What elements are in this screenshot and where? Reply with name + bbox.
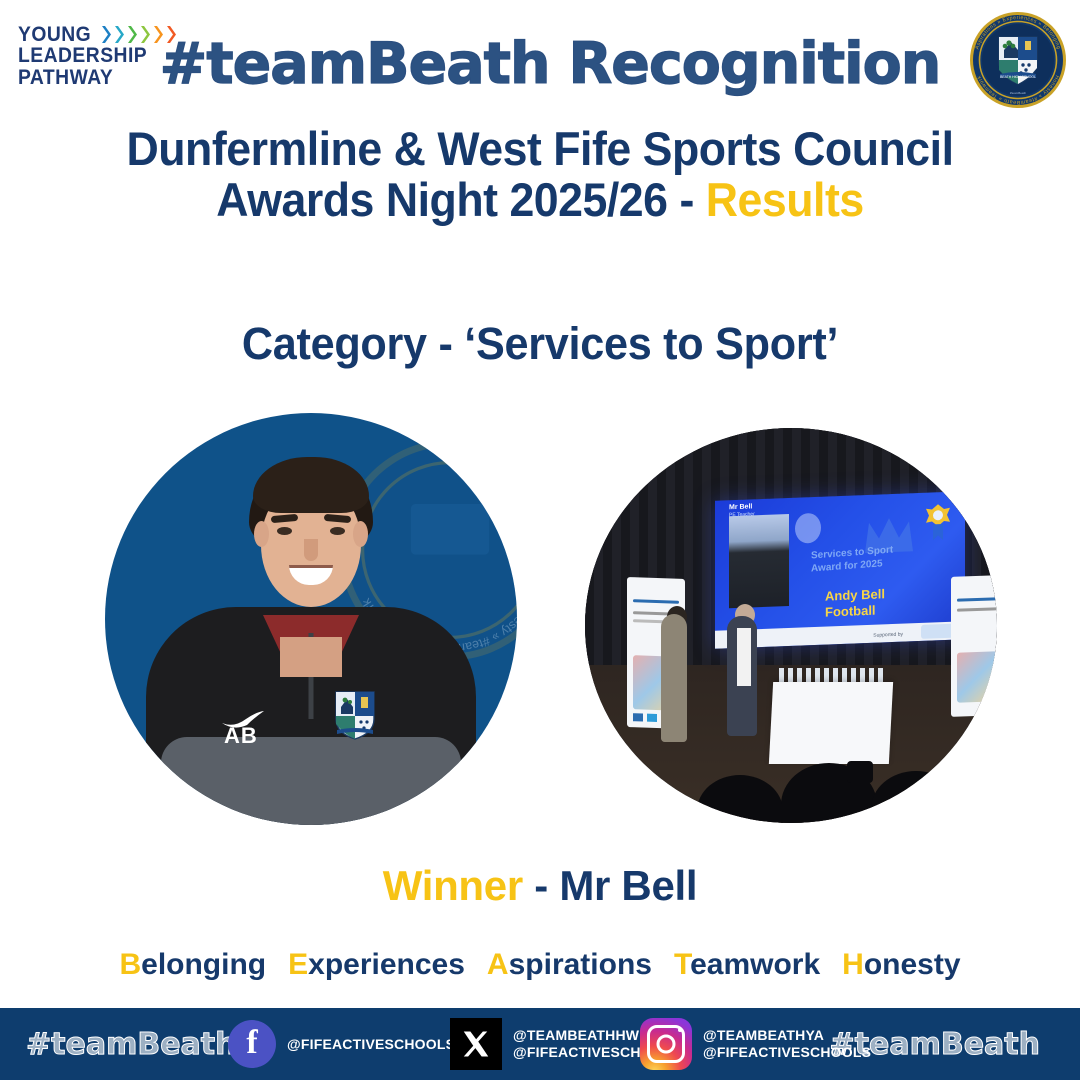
portrait-neck bbox=[280, 637, 342, 677]
value-belonging: Belonging bbox=[119, 948, 266, 981]
screen-winner-fullname: Andy Bell bbox=[825, 586, 885, 603]
young-leadership-pathway-logo: YOUNG LEADERSHIP PATHWAY bbox=[18, 24, 146, 104]
svg-text:BEATH HIGH SCHOOL: BEATH HIGH SCHOOL bbox=[1000, 75, 1036, 79]
beath-values-line: BelongingExperiencesAspirationsTeamworkH… bbox=[0, 948, 1080, 982]
portrait-nose bbox=[304, 539, 318, 561]
footer-hashtag-right: #teamBeath bbox=[830, 1027, 1040, 1062]
winner-line: Winner - Mr Bell bbox=[0, 862, 1080, 910]
value-belonging-initial: B bbox=[119, 948, 141, 981]
x-handle-1: @TEAMBEATHHWB bbox=[513, 1027, 650, 1043]
value-experiences-initial: E bbox=[288, 948, 308, 981]
winner-label: Winner bbox=[383, 862, 523, 909]
chevron-icon-3 bbox=[128, 26, 137, 43]
ylp-line-1: YOUNG bbox=[18, 24, 91, 45]
portrait-initials: AB bbox=[224, 723, 258, 749]
roller-banner-right bbox=[951, 575, 997, 717]
screen-winner-sport: Football bbox=[825, 602, 876, 619]
screen-supported-by-label: Supported by bbox=[873, 632, 903, 639]
winner-separator: - bbox=[523, 862, 559, 909]
audience-phone bbox=[847, 761, 873, 783]
value-aspirations: Aspirations bbox=[487, 948, 652, 981]
jacket-crest-icon bbox=[333, 689, 377, 741]
recognition-title-text: #teamBeath Recognition bbox=[160, 31, 941, 97]
rosette-icon bbox=[925, 502, 951, 543]
page-title-results-highlight: Results bbox=[706, 173, 864, 226]
svg-text:#teamBeath: #teamBeath bbox=[1010, 91, 1027, 95]
audience-head-1 bbox=[621, 787, 693, 823]
screen-winner-name: Mr Bell bbox=[729, 503, 752, 511]
facebook-handle: @FIFEACTIVESCHOOLS bbox=[287, 1036, 455, 1053]
screen-crest-icon bbox=[795, 513, 821, 544]
page-title-line-2-prefix: Awards Night 2025/26 - bbox=[216, 173, 706, 226]
winner-name: Mr Bell bbox=[559, 862, 697, 909]
school-crest-badge: Aspirations » Experiences » Belonging Ho… bbox=[968, 10, 1068, 110]
portrait-hair-top bbox=[253, 457, 369, 513]
page-title-line-1: Dunfermline & West Fife Sports Council bbox=[27, 124, 1053, 175]
social-footer-bar: #teamBeath @FIFEACTIVESCHOOLS @TEAMBEATH… bbox=[0, 1008, 1080, 1080]
chevron-icon-2 bbox=[115, 26, 124, 43]
portrait-eye-right bbox=[330, 527, 345, 535]
x-handle-2: @FIFEACTIVESCH bbox=[513, 1044, 641, 1060]
value-honesty-rest: onesty bbox=[864, 948, 961, 981]
instagram-handle-1: @TEAMBEATHYA bbox=[703, 1027, 824, 1043]
portrait-ear-right bbox=[353, 521, 368, 547]
screen-winner-role: PE Teacher bbox=[729, 511, 755, 518]
footer-hashtag-left: #teamBeath bbox=[26, 1027, 236, 1062]
value-honesty: Honesty bbox=[842, 948, 960, 981]
ylp-line-3: PATHWAY bbox=[18, 67, 136, 88]
value-teamwork-rest: eamwork bbox=[690, 948, 820, 981]
value-experiences: Experiences bbox=[288, 948, 465, 981]
x-handles: @TEAMBEATHHWB @FIFEACTIVESCH bbox=[513, 1027, 650, 1060]
instagram-icon[interactable] bbox=[640, 1018, 692, 1070]
screen-winner-photo bbox=[729, 514, 789, 608]
poster-canvas: YOUNG LEADERSHIP PATHWAY #teamBeath Reco… bbox=[0, 0, 1080, 1080]
screen-sponsor-logo bbox=[921, 624, 955, 639]
value-teamwork: Teamwork bbox=[674, 948, 820, 981]
portrait-ear-left bbox=[254, 521, 269, 547]
recognition-title: #teamBeath Recognition bbox=[150, 16, 950, 111]
page-title: Dunfermline & West Fife Sports Council A… bbox=[27, 124, 1053, 226]
awards-ceremony-photo: Mr Bell PE Teacher Services to Sport Awa… bbox=[585, 428, 997, 823]
value-aspirations-rest: spirations bbox=[509, 948, 652, 981]
audience-silhouettes bbox=[585, 713, 997, 823]
portrait-eye-left bbox=[277, 527, 292, 535]
x-twitter-icon[interactable] bbox=[450, 1018, 502, 1070]
value-honesty-initial: H bbox=[842, 948, 864, 981]
value-belonging-rest: elonging bbox=[141, 948, 266, 981]
value-aspirations-initial: A bbox=[487, 948, 509, 981]
winner-portrait-photo: Honesty » #teamBeath » Teamwork AB bbox=[105, 413, 517, 825]
ylp-line-2: LEADERSHIP bbox=[18, 45, 136, 66]
audience-head-2 bbox=[697, 775, 783, 823]
value-experiences-rest: xperiences bbox=[308, 948, 465, 981]
screen-award-title: Services to Sport Award for 2025 bbox=[811, 545, 893, 576]
person-right-shirt bbox=[737, 628, 751, 686]
footer-social-x[interactable]: @TEAMBEATHHWB @FIFEACTIVESCH bbox=[450, 1018, 650, 1070]
chevron-icon-1 bbox=[102, 26, 111, 43]
category-heading: Category - ‘Services to Sport’ bbox=[22, 318, 1059, 370]
portrait-head bbox=[249, 459, 373, 611]
value-teamwork-initial: T bbox=[674, 948, 690, 981]
screen-winner-block: Andy Bell Football bbox=[825, 586, 885, 619]
footer-social-facebook[interactable]: @FIFEACTIVESCHOOLS bbox=[228, 1020, 455, 1068]
chevron-icon-4 bbox=[141, 26, 150, 43]
facebook-icon[interactable] bbox=[228, 1020, 276, 1068]
page-title-line-2: Awards Night 2025/26 - Results bbox=[27, 175, 1053, 226]
audience-head-4 bbox=[871, 771, 961, 823]
portrait-jacket-lower bbox=[161, 737, 461, 825]
